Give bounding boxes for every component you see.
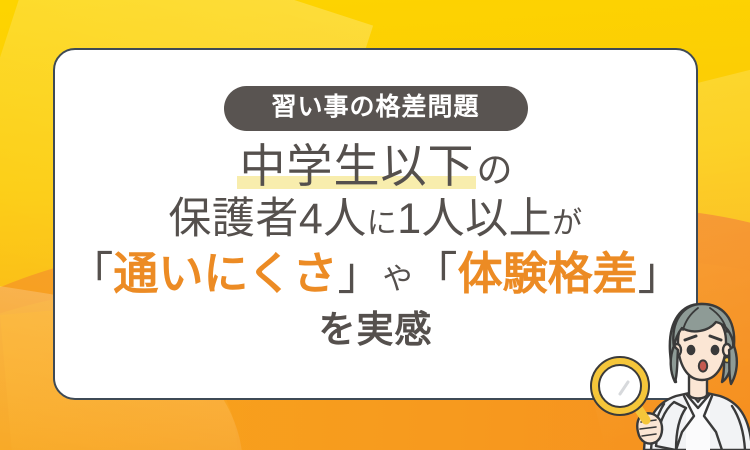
- open-bracket-2: 「: [413, 248, 458, 299]
- close-bracket-2: 」: [638, 248, 683, 299]
- headline-highlighted-term: 中学生以下: [237, 142, 476, 191]
- close-bracket-1: 」: [338, 248, 383, 299]
- headline-line-2-particle-2: が: [552, 207, 583, 240]
- accent-term-1: 通いにくさ: [113, 248, 337, 299]
- headline-block: 中学生以下の 保護者4人に1人以上が 「通いにくさ」や「体験格差」 を実感: [55, 142, 696, 349]
- headline-line-1: 中学生以下の: [55, 142, 696, 193]
- headline-line-3: 「通いにくさ」や「体験格差」: [55, 250, 696, 298]
- headline-line-2-particle-1: に: [367, 207, 398, 240]
- open-bracket-1: 「: [68, 248, 113, 299]
- headline-line-1-suffix: の: [476, 149, 513, 190]
- accent-term-2: 体験格差: [458, 248, 638, 299]
- content-card: 習い事の格差問題 中学生以下の 保護者4人に1人以上が 「通いにくさ」や「体験格…: [53, 48, 698, 400]
- headline-line-4: を実感: [55, 310, 696, 349]
- headline-conjunction: や: [383, 263, 413, 296]
- headline-line-2: 保護者4人に1人以上が: [55, 197, 696, 243]
- headline-line-2-part-2: 1人以上: [397, 195, 552, 243]
- category-badge: 習い事の格差問題: [223, 86, 527, 131]
- infographic-canvas: 習い事の格差問題 中学生以下の 保護者4人に1人以上が 「通いにくさ」や「体験格…: [0, 0, 750, 450]
- category-badge-label: 習い事の格差問題: [271, 93, 479, 121]
- headline-line-2-part-1: 保護者4人: [168, 195, 366, 243]
